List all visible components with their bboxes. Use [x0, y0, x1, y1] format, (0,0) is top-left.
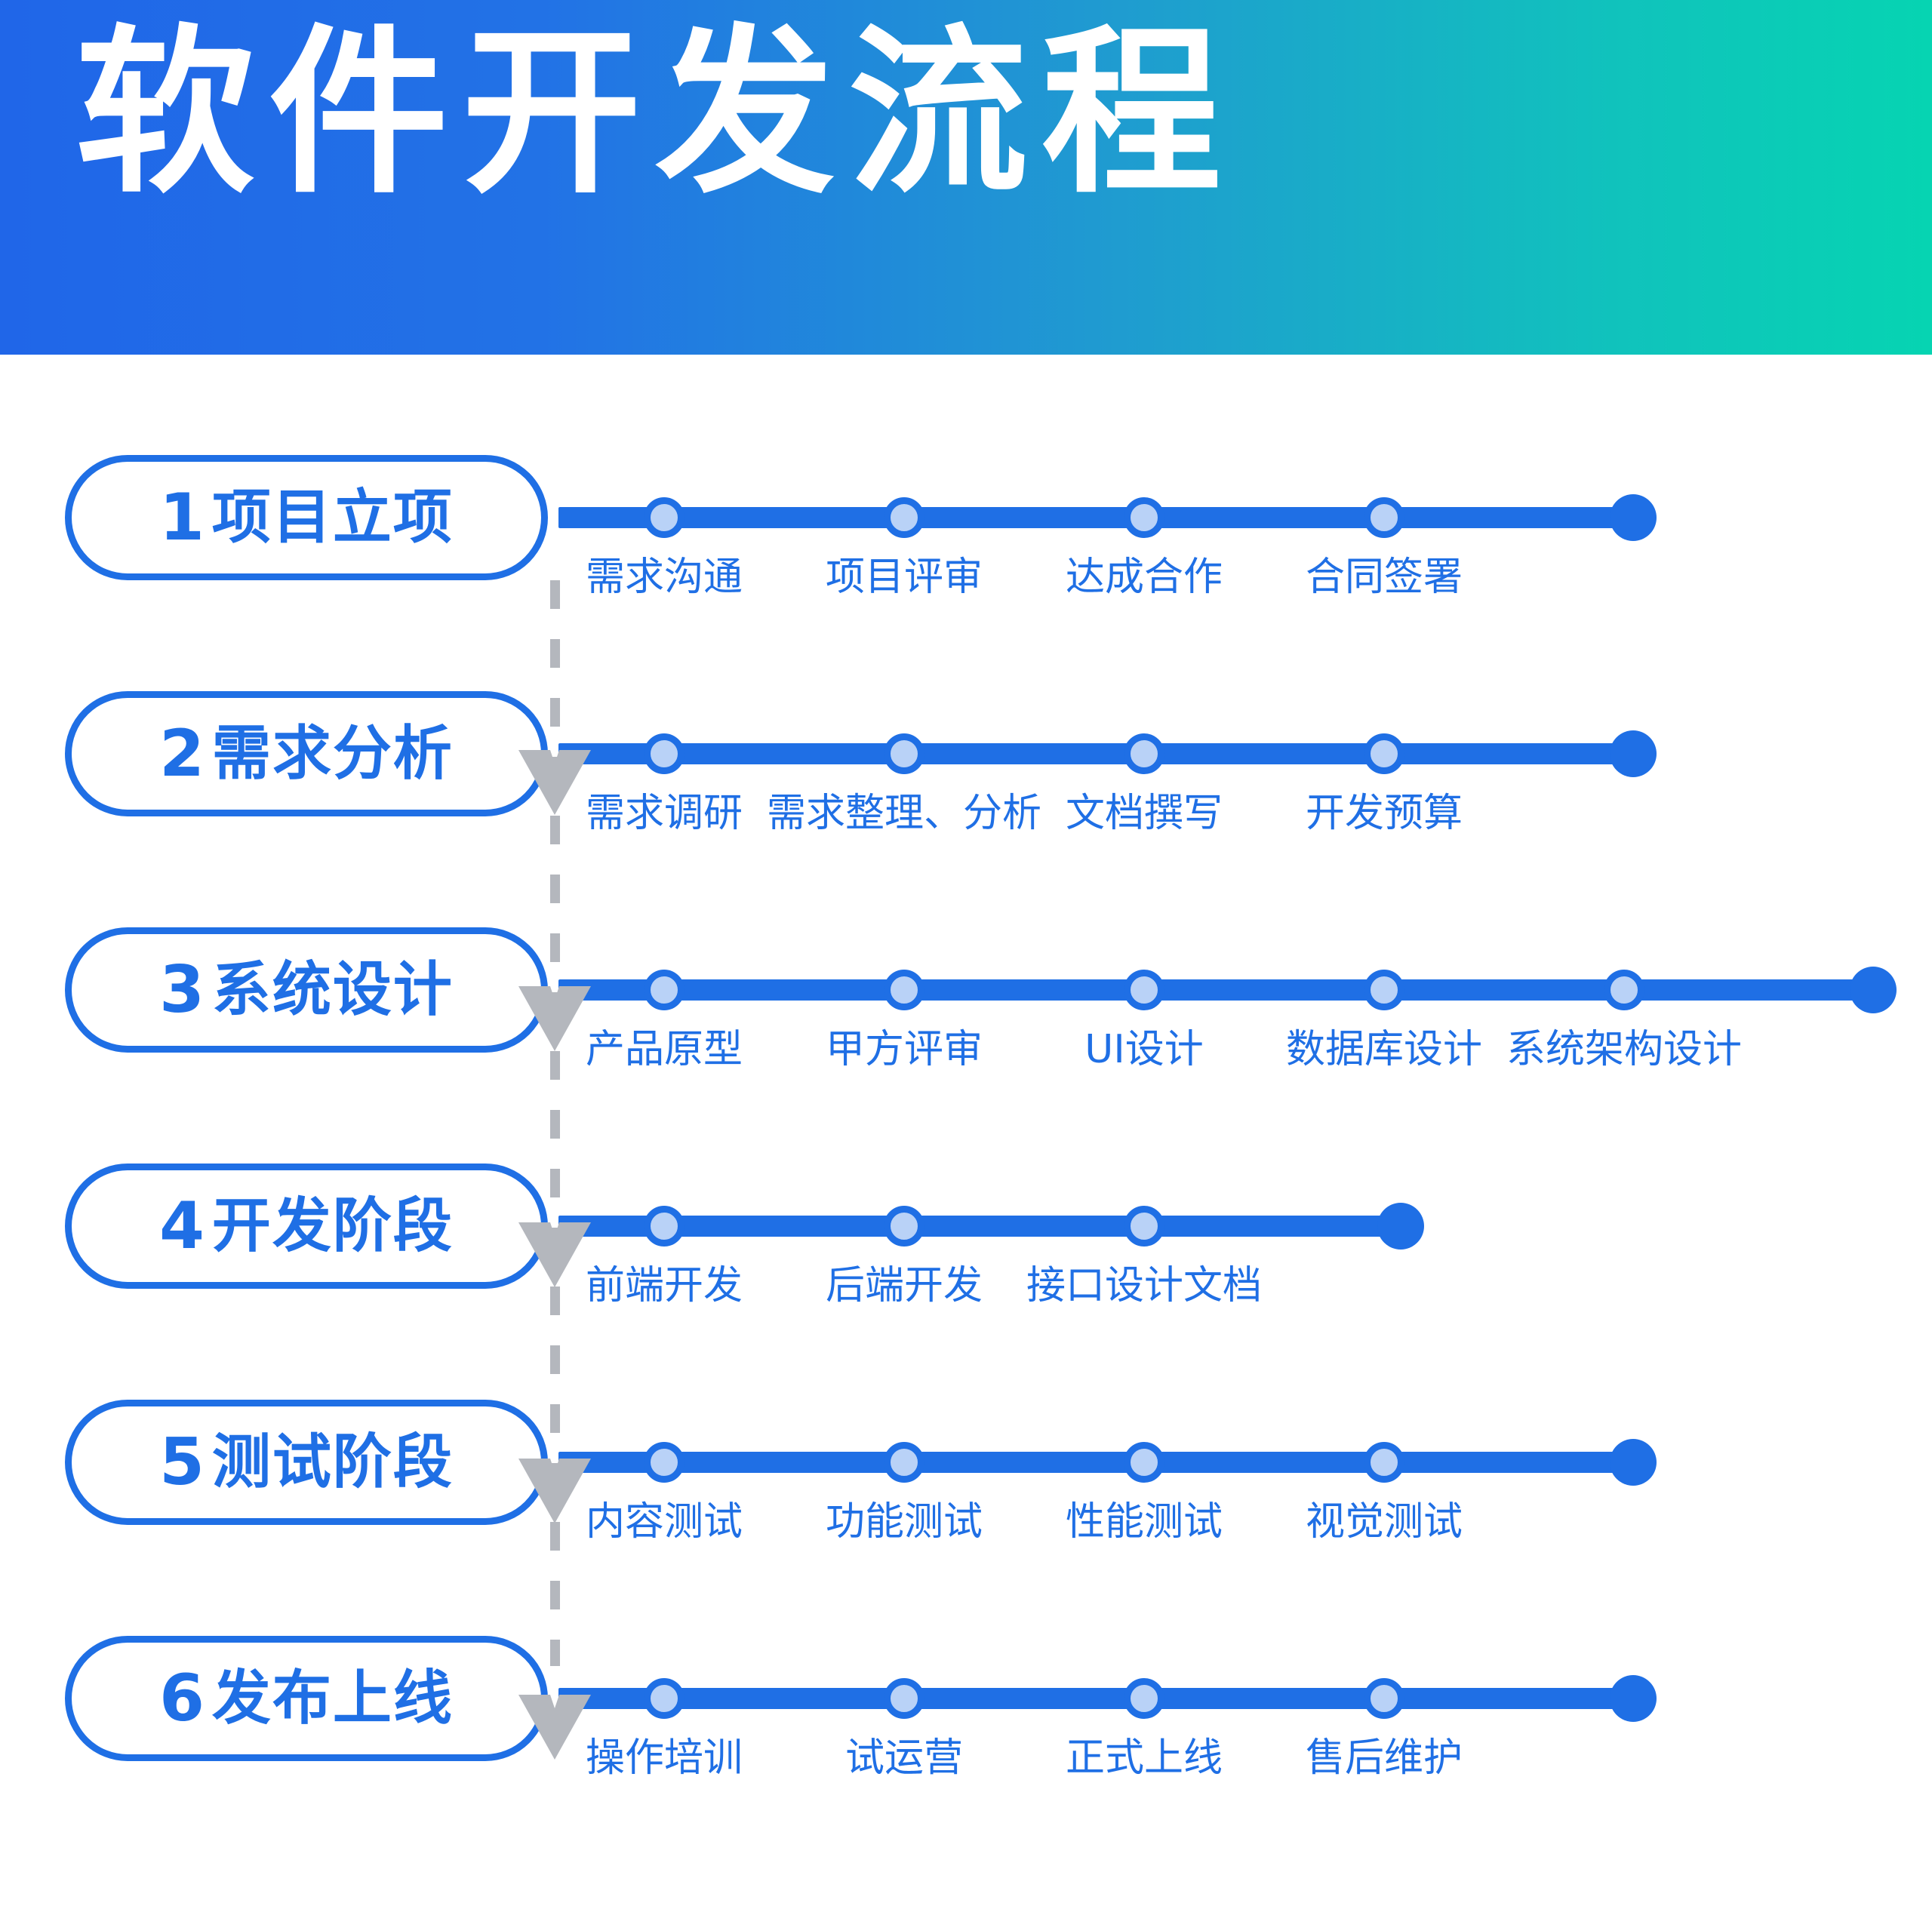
stage-number: 6 — [159, 1666, 205, 1731]
step-node[interactable] — [1364, 733, 1404, 774]
stage-row: 2需求分析需求调研需求整理、分析文档撰写开发预算 — [0, 691, 1932, 918]
stage-row: 3系统设计产品原型甲方评审UI设计数据库设计系统架构设计 — [0, 927, 1932, 1154]
flow-arrow-down-icon — [518, 750, 591, 815]
step-node[interactable] — [1124, 1678, 1164, 1719]
stage-name: 系统设计 — [212, 961, 454, 1019]
stage-number: 2 — [159, 721, 205, 786]
stage-number: 5 — [159, 1430, 205, 1495]
stage-number: 3 — [159, 958, 205, 1022]
flow-arrow-down-icon — [518, 1695, 591, 1760]
step-node[interactable] — [1364, 970, 1404, 1010]
stage-name: 发布上线 — [212, 1669, 454, 1728]
stage-name: 测试阶段 — [212, 1433, 454, 1492]
step-node[interactable] — [884, 733, 924, 774]
stage-pill-3[interactable]: 3系统设计 — [65, 927, 548, 1053]
step-label: 达成合作 — [1066, 558, 1223, 597]
header-banner: 软件开发流程 — [0, 0, 1932, 355]
step-label: 试运营 — [845, 1738, 963, 1778]
stage-pill-6[interactable]: 6发布上线 — [65, 1636, 548, 1761]
track-end-dot — [1610, 730, 1657, 777]
track-end-dot — [1610, 1675, 1657, 1722]
stage-pill-4[interactable]: 4开发阶段 — [65, 1164, 548, 1289]
stage-row: 4开发阶段前端开发后端开发接口设计文档 — [0, 1164, 1932, 1390]
step-node[interactable] — [1124, 970, 1164, 1010]
stage-row: 1项目立项需求沟通项目评审达成合作合同签署 — [0, 455, 1932, 681]
step-label: UI设计 — [1084, 1030, 1203, 1069]
step-label: 需求沟通 — [586, 558, 743, 597]
step-label: 开发预算 — [1306, 794, 1463, 833]
track-end-dot — [1610, 1439, 1657, 1486]
step-node[interactable] — [884, 970, 924, 1010]
step-node[interactable] — [644, 497, 685, 538]
step-label: 售后维护 — [1306, 1738, 1463, 1778]
step-node[interactable] — [884, 1206, 924, 1247]
flow-arrow-down-icon — [518, 1459, 591, 1523]
step-node[interactable] — [644, 1206, 685, 1247]
step-node[interactable] — [644, 1678, 685, 1719]
step-node[interactable] — [1364, 497, 1404, 538]
stage-track — [558, 743, 1633, 764]
page-title: 软件开发流程 — [75, 24, 1235, 204]
step-node[interactable] — [644, 970, 685, 1010]
step-node[interactable] — [1124, 1442, 1164, 1483]
stage-name: 项目立项 — [212, 488, 454, 547]
stage-track — [558, 1216, 1401, 1237]
track-end-dot — [1610, 494, 1657, 541]
flow-arrow-down-icon — [518, 986, 591, 1051]
step-label: 操作培训 — [586, 1738, 743, 1778]
step-node[interactable] — [884, 497, 924, 538]
stage-track — [558, 507, 1633, 528]
step-label: 前端开发 — [586, 1266, 743, 1305]
step-label: 合同签署 — [1306, 558, 1463, 597]
step-node[interactable] — [1124, 1206, 1164, 1247]
step-label: 产品原型 — [586, 1030, 743, 1069]
infographic-canvas: 软件开发流程 1项目立项需求沟通项目评审达成合作合同签署2需求分析需求调研需求整… — [0, 0, 1932, 1909]
step-label: 接口设计文档 — [1026, 1266, 1262, 1305]
stage-number: 1 — [159, 485, 205, 550]
step-label: 甲方评审 — [826, 1030, 983, 1069]
flow-arrow-down-icon — [518, 1222, 591, 1287]
step-label: 需求调研 — [586, 794, 743, 833]
step-node[interactable] — [1124, 497, 1164, 538]
stage-name: 需求分析 — [212, 724, 454, 783]
step-node[interactable] — [884, 1678, 924, 1719]
step-label: 文档撰写 — [1066, 794, 1223, 833]
stage-row: 6发布上线操作培训试运营正式上线售后维护 — [0, 1636, 1932, 1862]
stage-track — [558, 1452, 1633, 1473]
stage-pill-5[interactable]: 5测试阶段 — [65, 1400, 548, 1525]
step-label: 正式上线 — [1066, 1738, 1223, 1778]
step-label: 内容测试 — [586, 1502, 743, 1542]
step-label: 需求整理、分析 — [767, 794, 1041, 833]
stage-number: 4 — [159, 1194, 205, 1259]
track-end-dot — [1377, 1203, 1424, 1250]
step-label: 功能测试 — [826, 1502, 983, 1542]
step-label: 数据库设计 — [1286, 1030, 1482, 1069]
step-label: 项目评审 — [826, 558, 983, 597]
step-node[interactable] — [1364, 1442, 1404, 1483]
step-label: 后端开发 — [826, 1266, 983, 1305]
step-node[interactable] — [1364, 1678, 1404, 1719]
stage-pill-1[interactable]: 1项目立项 — [65, 455, 548, 580]
step-node[interactable] — [884, 1442, 924, 1483]
track-end-dot — [1850, 967, 1897, 1013]
stage-name: 开发阶段 — [212, 1197, 454, 1256]
step-label: 性能测试 — [1066, 1502, 1223, 1542]
step-node[interactable] — [644, 1442, 685, 1483]
stage-row: 5测试阶段内容测试功能测试性能测试视觉测试 — [0, 1400, 1932, 1626]
step-node[interactable] — [644, 733, 685, 774]
stage-pill-2[interactable]: 2需求分析 — [65, 691, 548, 816]
step-label: 系统架构设计 — [1506, 1030, 1742, 1069]
step-node[interactable] — [1604, 970, 1644, 1010]
stage-track — [558, 1688, 1633, 1709]
step-label: 视觉测试 — [1306, 1502, 1463, 1542]
stage-track — [558, 979, 1873, 1001]
step-node[interactable] — [1124, 733, 1164, 774]
